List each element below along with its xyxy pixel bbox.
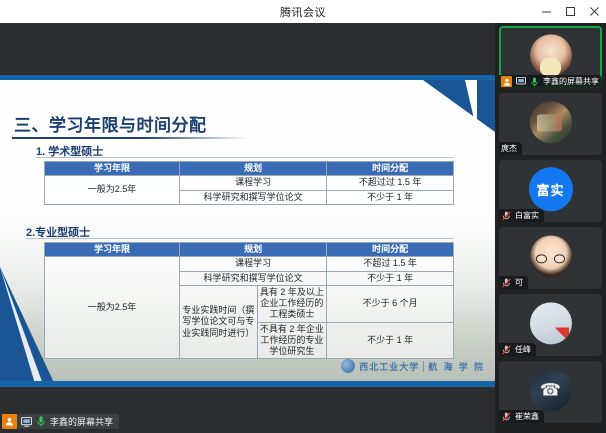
window-controls — [534, 0, 606, 23]
participant-tile-2[interactable]: 富实 白富实 — [499, 160, 602, 222]
column-header-time: 时间分配 — [327, 162, 454, 176]
mic-muted-icon — [501, 344, 512, 355]
avatar — [530, 34, 572, 76]
cell-years: 一般为2.5年 — [45, 257, 180, 359]
section-divider-1 — [36, 157, 454, 158]
table-header-row: 学习年限 规划 时间分配 — [45, 162, 454, 176]
participant-footer: 崔荣鑫 — [499, 410, 544, 423]
mic-on-icon — [529, 76, 540, 87]
participant-name: 庹杰 — [501, 143, 517, 154]
glasses-icon — [536, 255, 565, 263]
window-titlebar: 腾讯会议 — [0, 0, 606, 23]
participant-footer: 庹杰 — [499, 142, 522, 155]
participant-tile-5[interactable]: 崔荣鑫 — [499, 361, 602, 423]
column-header-years: 学习年限 — [45, 162, 180, 176]
screen-share-icon — [515, 76, 526, 87]
avatar — [530, 369, 572, 411]
participant-name: 可 — [515, 277, 523, 288]
university-emblem-icon — [341, 359, 355, 373]
university-logo: 西北工业大学 航 海 学 院 — [341, 359, 485, 373]
participant-tile-1[interactable]: 庹杰 — [499, 93, 602, 155]
avatar — [530, 235, 572, 277]
participant-name: 李鑫的屏幕共享 — [543, 76, 599, 87]
slide-bottom-accent-bar — [0, 381, 495, 387]
participant-tile-3[interactable]: 可 — [499, 227, 602, 289]
mic-muted-icon — [501, 210, 512, 221]
cell-time: 不少于 1 年 — [327, 190, 454, 204]
presentation-slide: 三、学习年限与时间分配 1. 学术型硕士 学习年限 规划 时间分配 一般为2.5… — [0, 75, 495, 387]
presenter-status-strip: 李鑫的屏幕共享 — [2, 414, 119, 429]
university-name: 西北工业大学 — [359, 360, 419, 373]
cell-time: 不少于 1 年 — [327, 271, 454, 285]
cell-time: 不少于 6 个月 — [327, 285, 454, 322]
cell-plan-practice: 专业实践时间（撰写学位论文可与专业实践同时进行） — [179, 285, 257, 359]
participant-footer: 白富实 — [499, 209, 544, 222]
cell-time: 不超过过 1.5 年 — [327, 176, 454, 190]
participant-tile-0[interactable]: 李鑫的屏幕共享 — [499, 26, 602, 88]
person-icon — [2, 414, 17, 429]
avatar — [530, 302, 572, 344]
mic-muted-icon — [501, 277, 512, 288]
mic-on-icon — [35, 416, 47, 428]
mic-muted-icon — [501, 411, 512, 422]
close-button[interactable] — [582, 0, 606, 23]
meeting-window: 腾讯会议 三、学习年限与时间分配 1. 学术型 — [0, 0, 606, 433]
cell-subcategory: 不具有 2 年企业工作经历的专业学位研究生 — [257, 322, 327, 359]
table-professional-master: 学习年限 规划 时间分配 一般为2.5年 课程学习 不超过 1.5 年 科学研究… — [44, 242, 454, 359]
cell-plan: 科学研究和撰写学位论文 — [179, 271, 326, 285]
minimize-button[interactable] — [534, 0, 558, 23]
person-icon — [501, 76, 512, 87]
column-header-plan: 规划 — [179, 162, 326, 176]
participant-name: 崔荣鑫 — [515, 411, 539, 422]
avatar — [530, 101, 572, 143]
table-row: 一般为2.5年 课程学习 不超过 1.5 年 — [45, 257, 454, 271]
participant-footer: 任峰 — [499, 343, 536, 356]
column-header-years: 学习年限 — [45, 243, 180, 257]
cell-plan: 科学研究和撰写学位论文 — [179, 190, 326, 204]
participant-tile-4[interactable]: 任峰 — [499, 294, 602, 356]
shared-screen-stage[interactable]: 三、学习年限与时间分配 1. 学术型硕士 学习年限 规划 时间分配 一般为2.5… — [0, 23, 495, 433]
table-header-row: 学习年限 规划 时间分配 — [45, 243, 454, 257]
participant-footer: 李鑫的屏幕共享 — [499, 75, 602, 88]
presenter-name-label: 李鑫的屏幕共享 — [50, 415, 113, 428]
column-header-plan: 规划 — [179, 243, 326, 257]
table-row: 一般为2.5年 课程学习 不超过过 1.5 年 — [45, 176, 454, 190]
app-title: 腾讯会议 — [280, 4, 326, 20]
slide-corner-decoration-top-right — [409, 80, 495, 132]
college-name: 航 海 学 院 — [428, 360, 485, 373]
logo-divider — [423, 361, 424, 372]
section-divider-2 — [26, 238, 454, 239]
cell-time: 不少于 1 年 — [327, 322, 454, 359]
cell-plan: 课程学习 — [179, 176, 326, 190]
cell-subcategory: 具有 2 年及以上企业工作经历的工程类硕士 — [257, 285, 327, 322]
screen-share-icon — [20, 416, 32, 428]
participant-panel[interactable]: 李鑫的屏幕共享 庹杰 富实 白富实 — [495, 23, 606, 433]
slide-title: 三、学习年限与时间分配 — [14, 111, 207, 136]
column-header-time: 时间分配 — [327, 243, 454, 257]
maximize-button[interactable] — [558, 0, 582, 23]
cell-years: 一般为2.5年 — [45, 176, 180, 205]
participant-name: 白富实 — [515, 210, 539, 221]
participant-name: 任峰 — [515, 344, 531, 355]
cell-time: 不超过 1.5 年 — [327, 257, 454, 271]
cell-plan: 课程学习 — [179, 257, 326, 271]
slide-title-underline — [12, 137, 248, 139]
participant-footer: 可 — [499, 276, 528, 289]
avatar: 富实 — [529, 167, 573, 211]
table-academic-master: 学习年限 规划 时间分配 一般为2.5年 课程学习 不超过过 1.5 年 科学研… — [44, 161, 454, 205]
